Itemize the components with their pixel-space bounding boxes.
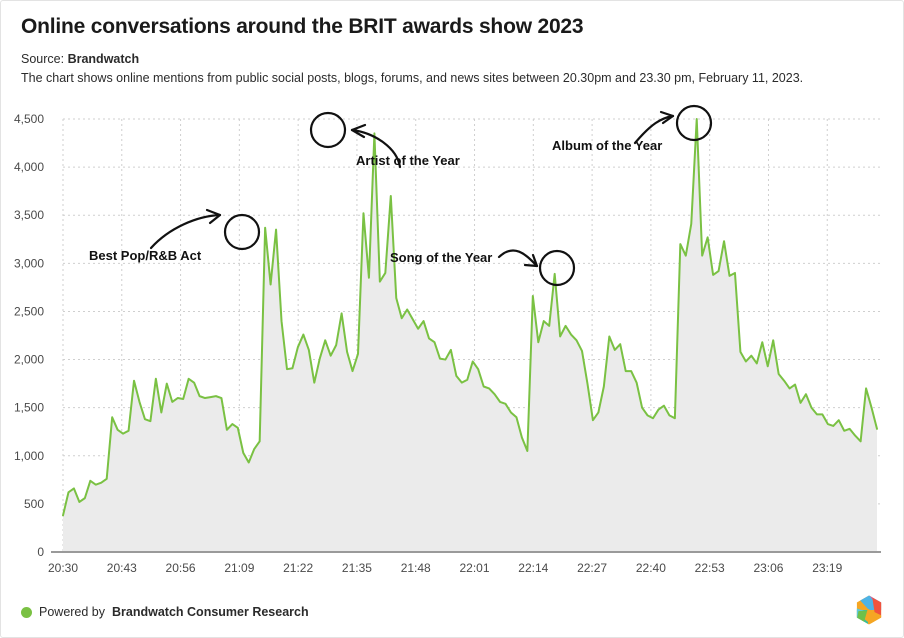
annotation-label: Album of the Year xyxy=(552,138,662,153)
x-tick-label: 21:35 xyxy=(342,561,372,575)
annotation-label: Artist of the Year xyxy=(356,153,460,168)
area-fill xyxy=(63,119,877,552)
annotation-circle-marker xyxy=(540,251,574,285)
y-tick-label: 3,500 xyxy=(14,208,44,222)
y-tick-label: 4,500 xyxy=(14,112,44,126)
chart-subtitle: The chart shows online mentions from pub… xyxy=(21,71,803,85)
annotation-label: Song of the Year xyxy=(390,250,492,265)
annotation-arrow xyxy=(151,215,220,248)
annotation-circle-marker xyxy=(311,113,345,147)
annotation-3: Song of the Year xyxy=(390,250,574,285)
chart-annotations: Best Pop/R&B ActArtist of the YearSong o… xyxy=(89,106,711,285)
x-tick-label: 23:06 xyxy=(753,561,783,575)
legend-dot-icon xyxy=(21,607,32,618)
annotation-circle-marker xyxy=(225,215,259,249)
mentions-area-chart: 05001,0001,5002,0002,5003,0003,5004,0004… xyxy=(1,96,904,576)
x-tick-label: 22:27 xyxy=(577,561,607,575)
x-axis-labels: 20:3020:4320:5621:0921:2221:3521:4822:01… xyxy=(48,561,843,575)
y-tick-label: 1,000 xyxy=(14,449,44,463)
annotation-circle-marker xyxy=(677,106,711,140)
y-tick-label: 0 xyxy=(37,545,44,559)
chart-card: Online conversations around the BRIT awa… xyxy=(0,0,904,638)
x-tick-label: 23:19 xyxy=(812,561,842,575)
powered-by-brand: Brandwatch Consumer Research xyxy=(112,605,309,619)
page-title: Online conversations around the BRIT awa… xyxy=(21,15,583,39)
x-tick-label: 22:01 xyxy=(460,561,490,575)
x-tick-label: 21:09 xyxy=(224,561,254,575)
x-tick-label: 21:48 xyxy=(401,561,431,575)
source-name: Brandwatch xyxy=(68,52,140,66)
x-tick-label: 20:30 xyxy=(48,561,78,575)
y-tick-label: 500 xyxy=(24,497,44,511)
y-tick-label: 1,500 xyxy=(14,401,44,415)
x-tick-label: 20:43 xyxy=(107,561,137,575)
y-tick-label: 2,500 xyxy=(14,304,44,318)
annotation-4: Album of the Year xyxy=(552,106,711,153)
annotation-1: Best Pop/R&B Act xyxy=(89,210,259,263)
y-tick-label: 3,000 xyxy=(14,256,44,270)
x-tick-label: 21:22 xyxy=(283,561,313,575)
x-tick-label: 22:14 xyxy=(518,561,548,575)
x-tick-label: 22:40 xyxy=(636,561,666,575)
y-tick-label: 4,000 xyxy=(14,160,44,174)
powered-by-prefix: Powered by xyxy=(39,605,105,619)
chart-footer: Powered by Brandwatch Consumer Research xyxy=(21,605,309,619)
chart-plot-area: 05001,0001,5002,0002,5003,0003,5004,0004… xyxy=(1,96,904,576)
brandwatch-hexagon-logo xyxy=(855,595,883,625)
source-label: Source: xyxy=(21,52,64,66)
annotation-2: Artist of the Year xyxy=(311,113,460,168)
annotation-label: Best Pop/R&B Act xyxy=(89,248,202,263)
x-tick-label: 20:56 xyxy=(166,561,196,575)
y-tick-label: 2,000 xyxy=(14,353,44,367)
source-line: Source: Brandwatch xyxy=(21,52,139,66)
y-axis-labels: 05001,0001,5002,0002,5003,0003,5004,0004… xyxy=(14,112,44,559)
x-tick-label: 22:53 xyxy=(695,561,725,575)
